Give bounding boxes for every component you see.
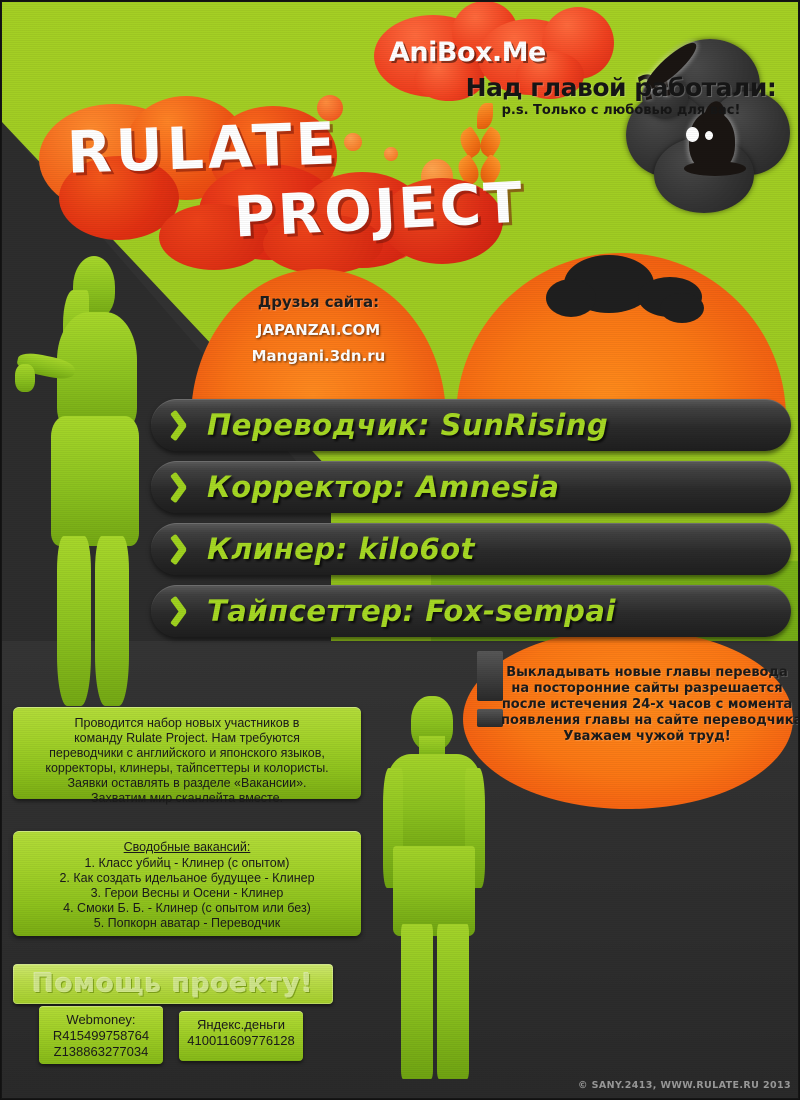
chevron-right-icon (173, 410, 195, 440)
rulate-project-logo[interactable]: RULATE PROJECT (29, 96, 529, 271)
role-label-corrector: Корректор: Amnesia (207, 470, 559, 504)
bunny-mascot-logo[interactable]: ?! (626, 39, 791, 224)
vacancy-item[interactable]: 1. Класс убийц - Клинер (с опытом) (21, 856, 353, 871)
role-row-cleaner[interactable]: Клинер: kilo6ot (151, 523, 791, 575)
recruit-line: переводчики с английского и японского яз… (21, 746, 353, 761)
anibox-title: AniBox.Me (389, 37, 546, 68)
credits-subheading: p.s. Только с любовью для вас! (456, 103, 786, 118)
friends-link-1[interactable]: JAPANZAI.COM (191, 321, 446, 339)
exclamation-icon (477, 651, 503, 727)
yandex-wallet: 410011609776128 (183, 1033, 299, 1049)
warning-line: Выкладывать новые главы перевода (501, 665, 793, 681)
chevron-right-icon (173, 534, 195, 564)
webmoney-label: Webmoney: (43, 1012, 159, 1028)
recruit-line: Заявки оставлять в разделе «Вакансии». (21, 776, 353, 791)
role-label-typesetter: Тайпсеттер: Fox-sempai (207, 594, 616, 628)
warning-text: Выкладывать новые главы перевода на пост… (501, 665, 793, 745)
role-label-cleaner: Клинер: kilo6ot (207, 532, 475, 566)
warning-line: после истечения 24-х часов с момента (501, 697, 793, 713)
help-project-label: Помощь проекту! (13, 964, 333, 1004)
credits-page: AniBox.Me RULATE PROJECT ?! (0, 0, 800, 1100)
vacancies-panel: Сводобные вакансий: 1. Класс убийц - Кли… (13, 831, 361, 936)
role-row-corrector[interactable]: Корректор: Amnesia (151, 461, 791, 513)
role-label-translator: Переводчик: SunRising (207, 408, 608, 442)
recruit-line: команду Rulate Project. Нам требуются (21, 731, 353, 746)
bunny-eye-left-icon (686, 127, 699, 142)
tree-cloud-icon (546, 279, 596, 317)
warning-line: появления главы на сайте переводчика. (501, 713, 793, 729)
role-row-typesetter[interactable]: Тайпсеттер: Fox-sempai (151, 585, 791, 637)
webmoney-wallet-z: Z138863277034 (43, 1044, 159, 1060)
logo-rulate-text: RULATE (66, 109, 341, 186)
chevron-right-icon (173, 596, 195, 626)
friends-link-2[interactable]: Mangani.3dn.ru (191, 347, 446, 365)
credits-heading: Над главой работали: (456, 73, 786, 102)
vacancies-heading: Сводобные вакансий: (21, 840, 353, 855)
footer-copyright: © SANY.2413, WWW.RULATE.RU 2013 (578, 1080, 791, 1091)
vacancy-item[interactable]: 5. Попкорн аватар - Переводчик (21, 916, 353, 931)
bunny-eye-right-icon (705, 131, 713, 140)
vacancy-item[interactable]: 4. Смоки Б. Б. - Клинер (с опытом или бе… (21, 901, 353, 916)
role-list: Переводчик: SunRising Корректор: Amnesia… (151, 399, 791, 647)
vacancy-item[interactable]: 3. Герои Весны и Осени - Клинер (21, 886, 353, 901)
webmoney-box[interactable]: Webmoney: R415499758764 Z138863277034 (39, 1006, 163, 1064)
tree-cloud-icon (660, 293, 704, 323)
vacancy-item[interactable]: 2. Как создать идельаное будущее - Клине… (21, 871, 353, 886)
yandex-label: Яндекс.деньги (183, 1017, 299, 1033)
recruit-line: Проводится набор новых участников в (21, 716, 353, 731)
bunny-foot-icon (684, 161, 746, 176)
recruit-line: Захватим мир сканлейта вместе. (21, 791, 353, 806)
role-row-translator[interactable]: Переводчик: SunRising (151, 399, 791, 451)
warning-line: на посторонние сайты разрешается (501, 681, 793, 697)
yandex-money-box[interactable]: Яндекс.деньги 410011609776128 (179, 1011, 303, 1061)
chevron-right-icon (173, 472, 195, 502)
warning-line: Уважаем чужой труд! (501, 729, 793, 745)
webmoney-wallet-r: R415499758764 (43, 1028, 159, 1044)
recruitment-panel: Проводится набор новых участников в кома… (13, 707, 361, 799)
friends-title: Друзья сайта: (191, 293, 446, 311)
recruit-line: корректоры, клинеры, тайпсеттеры и колор… (21, 761, 353, 776)
help-project-banner[interactable]: Помощь проекту! (13, 964, 333, 1004)
